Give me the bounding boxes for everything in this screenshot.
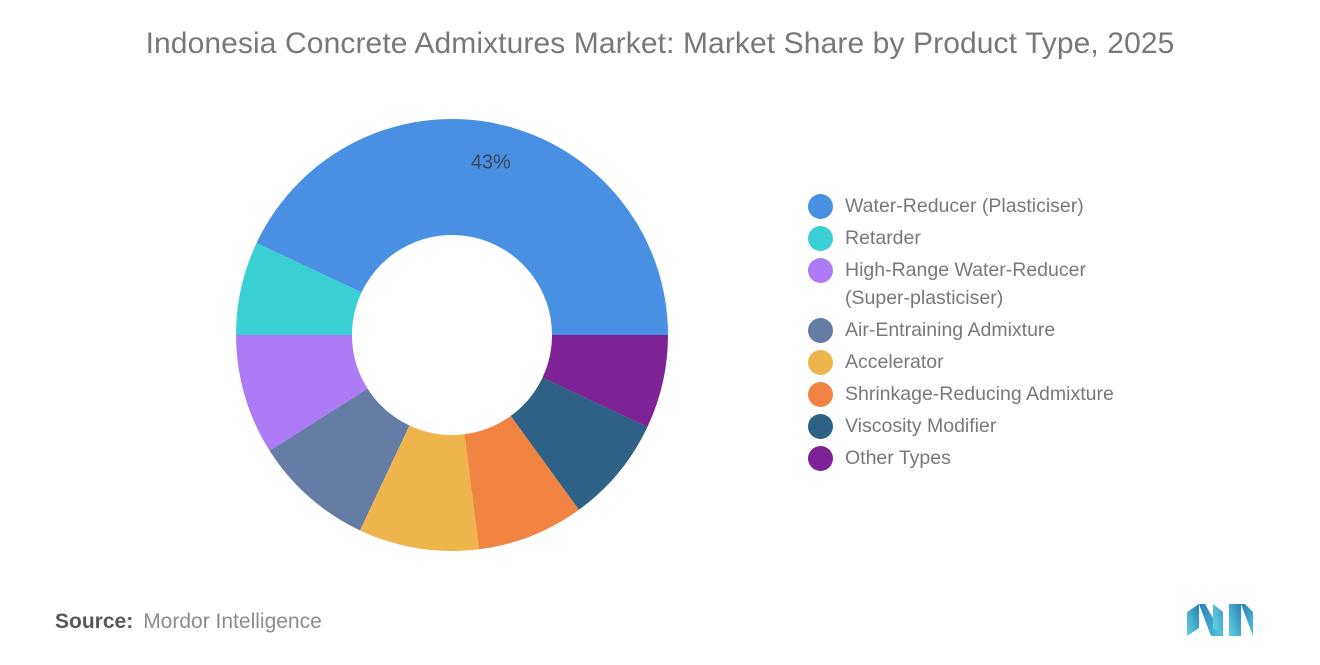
donut-chart: 43% [236,119,668,551]
legend-item[interactable]: Air-Entraining Admixture [808,316,1228,344]
legend-item[interactable]: Viscosity Modifier [808,412,1228,440]
source-value: Mordor Intelligence [143,610,322,634]
source-label: Source: [55,610,133,634]
legend-item[interactable]: Accelerator [808,348,1228,376]
page-title: Indonesia Concrete Admixtures Market: Ma… [0,27,1320,61]
chart-page: Indonesia Concrete Admixtures Market: Ma… [0,0,1320,665]
legend-item-label: Accelerator [845,348,944,376]
legend-item-label: Air-Entraining Admixture [845,316,1055,344]
legend-item[interactable]: High-Range Water-Reducer (Super-plastici… [808,256,1228,312]
legend-item-label: Shrinkage-Reducing Admixture [845,380,1114,408]
legend-swatch-icon [808,318,833,343]
mordor-intelligence-logo-icon [1185,600,1255,640]
legend-swatch-icon [808,446,833,471]
legend-item-label: Retarder [845,224,921,252]
chart-legend: Water-Reducer (Plasticiser)RetarderHigh-… [808,192,1228,476]
donut-slice-group [236,119,668,551]
legend-swatch-icon [808,258,833,283]
legend-item-label: Water-Reducer (Plasticiser) [845,192,1084,220]
legend-swatch-icon [808,350,833,375]
legend-item-label: Other Types [845,444,951,472]
footer: Source: Mordor Intelligence [55,610,322,634]
legend-item[interactable]: Water-Reducer (Plasticiser) [808,192,1228,220]
legend-item[interactable]: Retarder [808,224,1228,252]
legend-swatch-icon [808,194,833,219]
legend-item[interactable]: Shrinkage-Reducing Admixture [808,380,1228,408]
legend-item-label: Viscosity Modifier [845,412,996,440]
legend-item[interactable]: Other Types [808,444,1228,472]
legend-swatch-icon [808,382,833,407]
legend-swatch-icon [808,226,833,251]
donut-label-group: 43% [471,151,511,173]
donut-slice-label: 43% [471,151,511,173]
donut-chart-svg: 43% [236,119,668,551]
legend-swatch-icon [808,414,833,439]
legend-item-label: High-Range Water-Reducer (Super-plastici… [845,256,1155,312]
